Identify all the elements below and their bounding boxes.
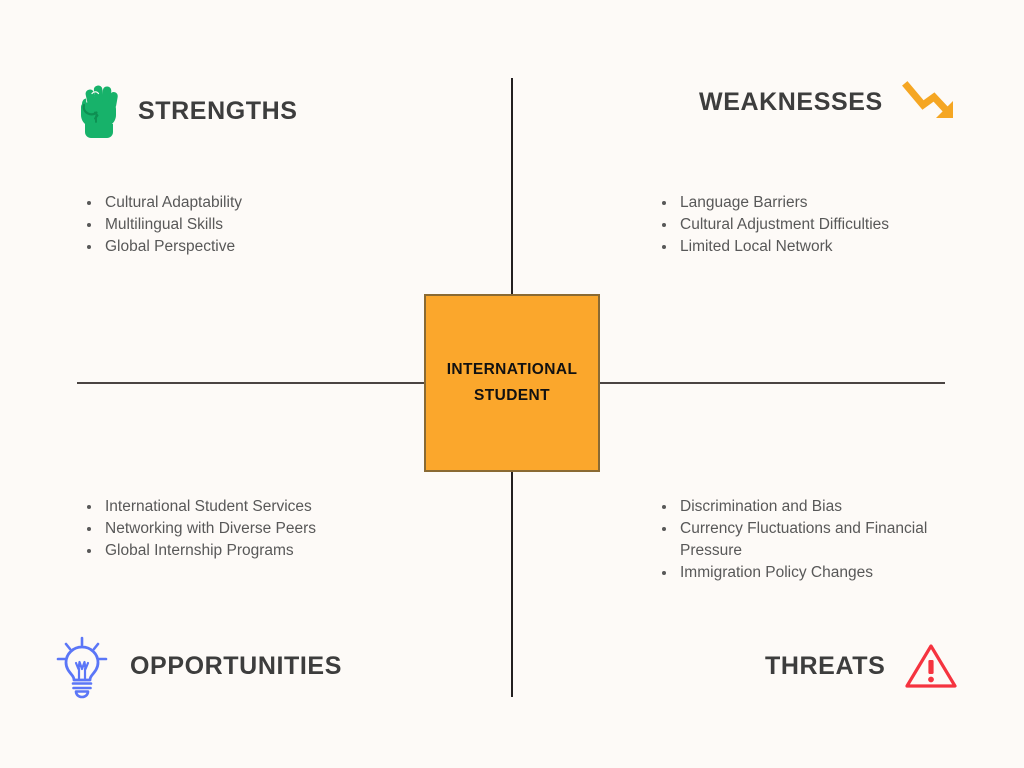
downward-trend-arrow-icon [901,80,959,124]
center-subject-box: INTERNATIONAL STUDENT [424,294,600,472]
opportunities-list: International Student Services Networkin… [81,496,441,562]
list-item: Global Perspective [81,236,441,258]
list-item: Cultural Adaptability [81,192,441,214]
center-subject-label: INTERNATIONAL STUDENT [447,357,578,410]
list-item: International Student Services [81,496,441,518]
quadrant-title-weaknesses: WEAKNESSES [699,88,883,117]
quadrant-heading-threats: THREATS [765,640,959,692]
list-item: Cultural Adjustment Difficulties [656,214,976,236]
quadrant-title-threats: THREATS [765,652,885,681]
list-item: Immigration Policy Changes [656,562,956,584]
list-item: Networking with Diverse Peers [81,518,441,540]
quadrant-heading-strengths: STRENGTHS [72,80,298,142]
list-item: Language Barriers [656,192,976,214]
quadrant-title-opportunities: OPPORTUNITIES [130,652,342,681]
list-item: Global Internship Programs [81,540,441,562]
threats-list: Discrimination and Bias Currency Fluctua… [656,496,956,584]
weaknesses-list: Language Barriers Cultural Adjustment Di… [656,192,976,258]
list-item: Discrimination and Bias [656,496,956,518]
list-item: Multilingual Skills [81,214,441,236]
list-item: Limited Local Network [656,236,976,258]
quadrant-heading-opportunities: OPPORTUNITIES [52,633,342,699]
warning-triangle-icon [903,640,959,692]
list-item: Currency Fluctuations and Financial Pres… [656,518,956,562]
raised-fist-icon [72,80,120,142]
strengths-list: Cultural Adaptability Multilingual Skill… [81,192,441,258]
lightbulb-icon [52,633,112,699]
quadrant-title-strengths: STRENGTHS [138,97,298,126]
swot-diagram: STRENGTHS Cultural Adaptability Multilin… [0,0,1024,768]
quadrant-heading-weaknesses: WEAKNESSES [699,80,959,124]
